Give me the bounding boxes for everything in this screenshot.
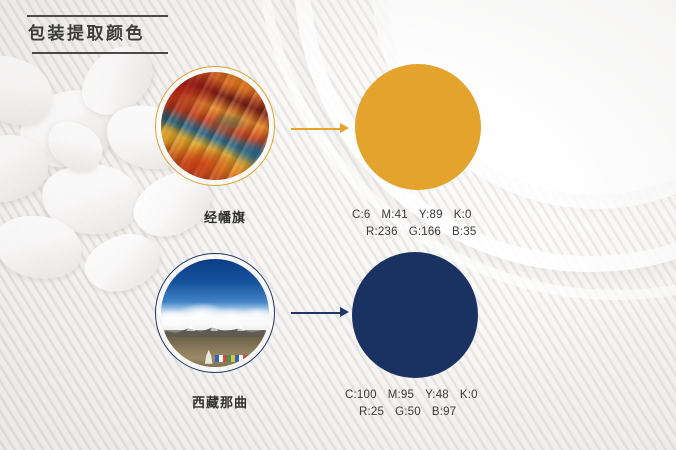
color-extraction-slide: 包装提取颜色 经幡旗 C:6M:41Y:89K:0 R:236G:166B:35…: [0, 0, 676, 450]
arrow-gold-shaft: [291, 128, 341, 130]
rgb-g-gold: G:166: [409, 226, 441, 238]
cmyk-m-gold: M:41: [382, 209, 408, 221]
rgb-line-navy: R:25G:50B:97: [345, 404, 555, 421]
page-title: 包装提取颜色: [27, 17, 169, 52]
arrow-navy: [291, 306, 349, 320]
page-header: 包装提取颜色: [27, 15, 169, 54]
arrow-navy-head: [340, 307, 349, 317]
color-values-gold: C:6M:41Y:89K:0 R:236G:166B:35: [352, 207, 562, 241]
rgb-r-gold: R:236: [366, 226, 398, 238]
background-vignette: [0, 0, 676, 450]
tibet-naqu-photo-frame[interactable]: [155, 253, 275, 373]
color-swatch-navy[interactable]: [352, 252, 478, 378]
cmyk-c-navy: C:100: [345, 389, 377, 401]
photo-prayer-flag-line: [215, 355, 265, 362]
cmyk-line-gold: C:6M:41Y:89K:0: [352, 207, 562, 224]
prayer-flags-photo: [161, 72, 269, 180]
cmyk-k-navy: K:0: [460, 389, 478, 401]
rgb-b-navy: B:97: [432, 406, 456, 418]
cmyk-c-gold: C:6: [352, 209, 371, 221]
rgb-b-gold: B:35: [452, 226, 476, 238]
color-swatch-gold[interactable]: [355, 64, 481, 190]
header-rule-bottom: [32, 52, 168, 54]
photo-grassland: [161, 337, 269, 367]
prayer-flags-caption: 经幡旗: [145, 207, 305, 226]
arrow-gold: [291, 122, 349, 136]
cmyk-m-navy: M:95: [388, 389, 414, 401]
cmyk-y-navy: Y:48: [425, 389, 449, 401]
arrow-gold-head: [340, 123, 349, 133]
cmyk-line-navy: C:100M:95Y:48K:0: [345, 387, 555, 404]
tibet-naqu-caption: 西藏那曲: [140, 392, 300, 411]
arrow-navy-shaft: [291, 312, 341, 314]
cmyk-y-gold: Y:89: [419, 209, 443, 221]
prayer-flags-photo-frame[interactable]: [155, 66, 275, 186]
rgb-g-navy: G:50: [395, 406, 421, 418]
rgb-r-navy: R:25: [359, 406, 384, 418]
color-values-navy: C:100M:95Y:48K:0 R:25G:50B:97: [345, 387, 555, 421]
tibet-naqu-photo: [161, 259, 269, 367]
cmyk-k-gold: K:0: [454, 209, 472, 221]
rgb-line-gold: R:236G:166B:35: [352, 224, 562, 241]
